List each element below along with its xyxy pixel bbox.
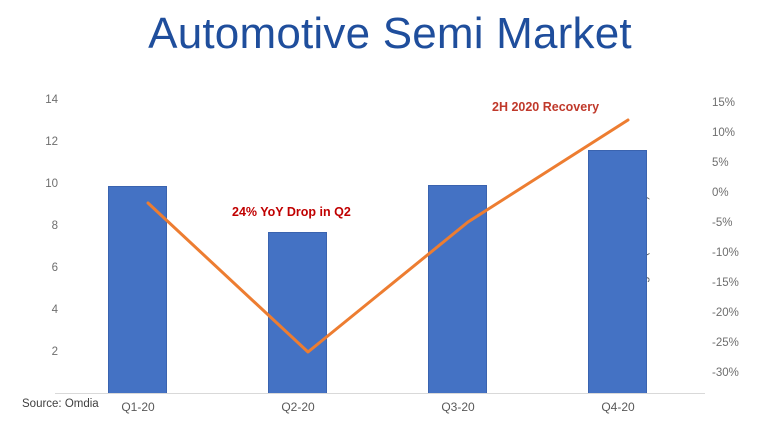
page-title: Automotive Semi Market <box>0 6 780 62</box>
line-path <box>148 120 628 352</box>
source-note: Source: Omdia <box>22 398 99 410</box>
y-left-tick-14: 14 <box>18 94 58 106</box>
y-right-tick-m15: -15% <box>712 277 756 289</box>
bar-q2-20 <box>268 232 327 394</box>
x-tick-q2-20: Q2-20 <box>238 400 358 414</box>
y-right-tick-m30: -30% <box>712 367 756 379</box>
y-right-tick-m25: -25% <box>712 337 756 349</box>
y-right-tick-m5: -5% <box>712 217 756 229</box>
x-tick-q4-20: Q4-20 <box>558 400 678 414</box>
y-right-tick-0: 0% <box>712 187 756 199</box>
y-right-tick-m10: -10% <box>712 247 756 259</box>
y-right-tick-15: 15% <box>712 97 756 109</box>
y-left-tick-6: 6 <box>18 262 58 274</box>
bar-q1-20 <box>108 186 167 394</box>
y-left-tick-10: 10 <box>18 178 58 190</box>
y-left-tick-8: 8 <box>18 220 58 232</box>
y-right-tick-m20: -20% <box>712 307 756 319</box>
x-tick-q3-20: Q3-20 <box>398 400 518 414</box>
annotation-q2-drop: 24% YoY Drop in Q2 <box>232 205 351 219</box>
y-left-tick-4: 4 <box>18 304 58 316</box>
y-left-tick-2: 2 <box>18 346 58 358</box>
chart-slide: Automotive Semi Market 14 12 10 8 6 4 2 … <box>0 0 780 428</box>
bar-q3-20 <box>428 185 487 394</box>
y-right-tick-5: 5% <box>712 157 756 169</box>
y-left-tick-12: 12 <box>18 136 58 148</box>
annotation-h2-recovery: 2H 2020 Recovery <box>492 100 599 114</box>
y-right-tick-10: 10% <box>712 127 756 139</box>
bar-q4-20 <box>588 150 647 394</box>
category-axis-line <box>55 393 705 394</box>
